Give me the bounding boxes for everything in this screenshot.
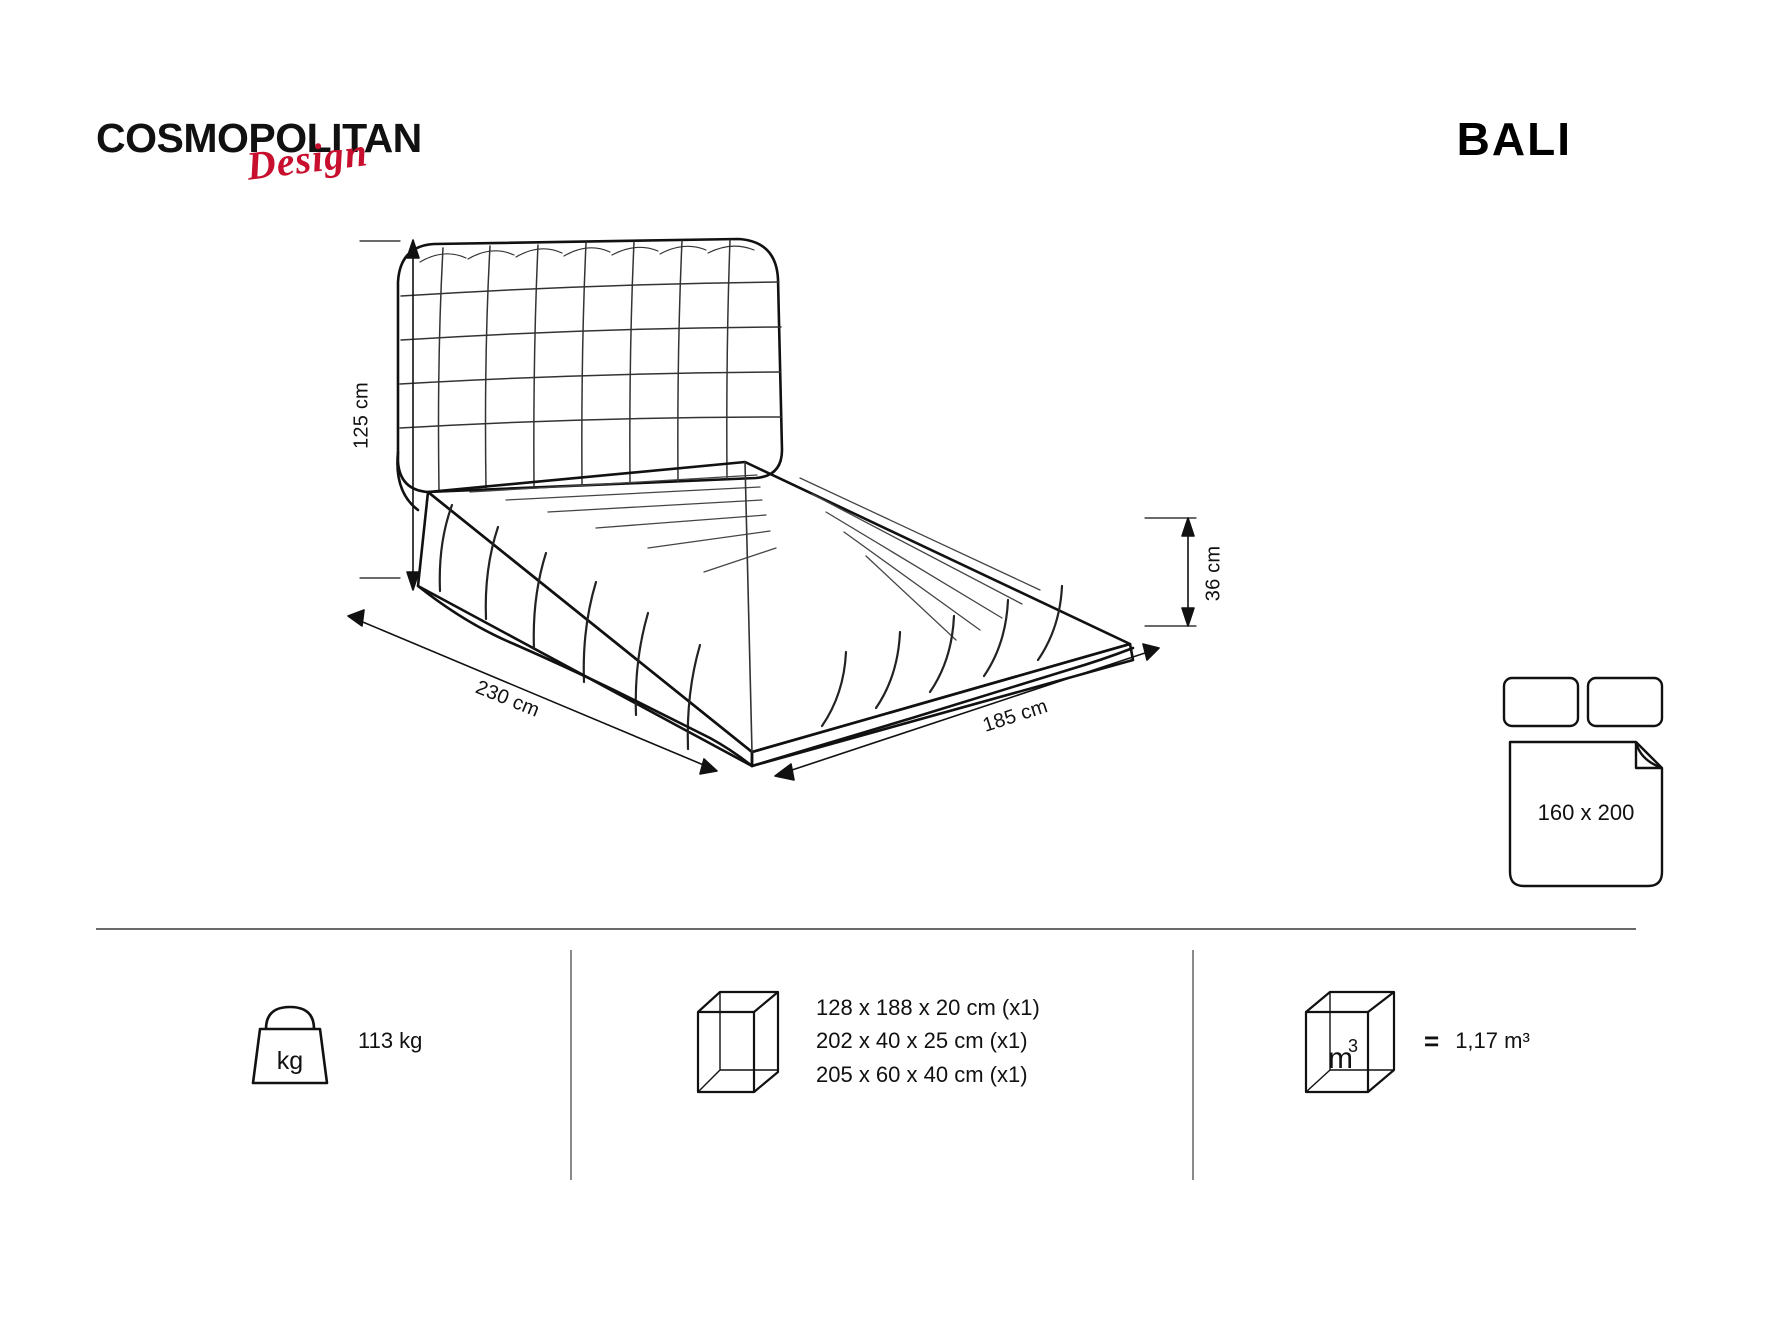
dimension-base-height-label: 36 cm: [1203, 535, 1226, 613]
mattress-size-icon: [1496, 672, 1676, 902]
volume-panel: m 3 = 1,17 m³: [1298, 982, 1530, 1100]
mattress-center-seam: [745, 462, 752, 752]
package-item: 202 x 40 x 25 cm (x1): [816, 1024, 1040, 1057]
dimension-length-label: 230 cm: [472, 676, 543, 722]
bed-right-face: [752, 644, 1133, 766]
volume-box-icon: m 3: [1298, 982, 1408, 1100]
dimension-height-label: 125 cm: [351, 370, 374, 462]
weight-value: 113 kg: [358, 1025, 422, 1057]
pillow-right-icon: [1588, 678, 1662, 726]
mattress-size-label: 160 x 200: [1496, 800, 1676, 826]
weight-handle-icon: [266, 1007, 314, 1029]
headboard-outline: [398, 239, 782, 492]
bed-front-left-face: [418, 492, 752, 766]
weight-icon-unit: kg: [277, 1047, 303, 1075]
page-title: BALI: [1457, 116, 1572, 162]
bed-technical-drawing: [0, 0, 1770, 1327]
equals-sign: =: [1424, 1026, 1439, 1057]
weight-icon: kg: [248, 995, 332, 1087]
pillow-left-icon: [1504, 678, 1578, 726]
weight-panel: kg 113 kg: [248, 995, 422, 1087]
brand-logo: COSMOPOLITAN Design: [96, 118, 516, 198]
section-divider-2: [1192, 950, 1194, 1180]
package-item: 128 x 188 x 20 cm (x1): [816, 991, 1040, 1024]
dimension-width-label: 185 cm: [980, 695, 1051, 738]
section-divider-1: [570, 950, 572, 1180]
volume-value: 1,17 m³: [1455, 1025, 1530, 1057]
packages-panel: 128 x 188 x 20 cm (x1) 202 x 40 x 25 cm …: [690, 982, 1040, 1100]
volume-icon-exponent: 3: [1348, 1036, 1358, 1056]
package-list: 128 x 188 x 20 cm (x1) 202 x 40 x 25 cm …: [816, 991, 1040, 1091]
package-item: 205 x 60 x 40 cm (x1): [816, 1058, 1040, 1091]
spec-sheet: COSMOPOLITAN Design BALI: [0, 0, 1770, 1327]
package-box-icon: [690, 982, 790, 1100]
section-divider-horizontal: [96, 928, 1636, 930]
